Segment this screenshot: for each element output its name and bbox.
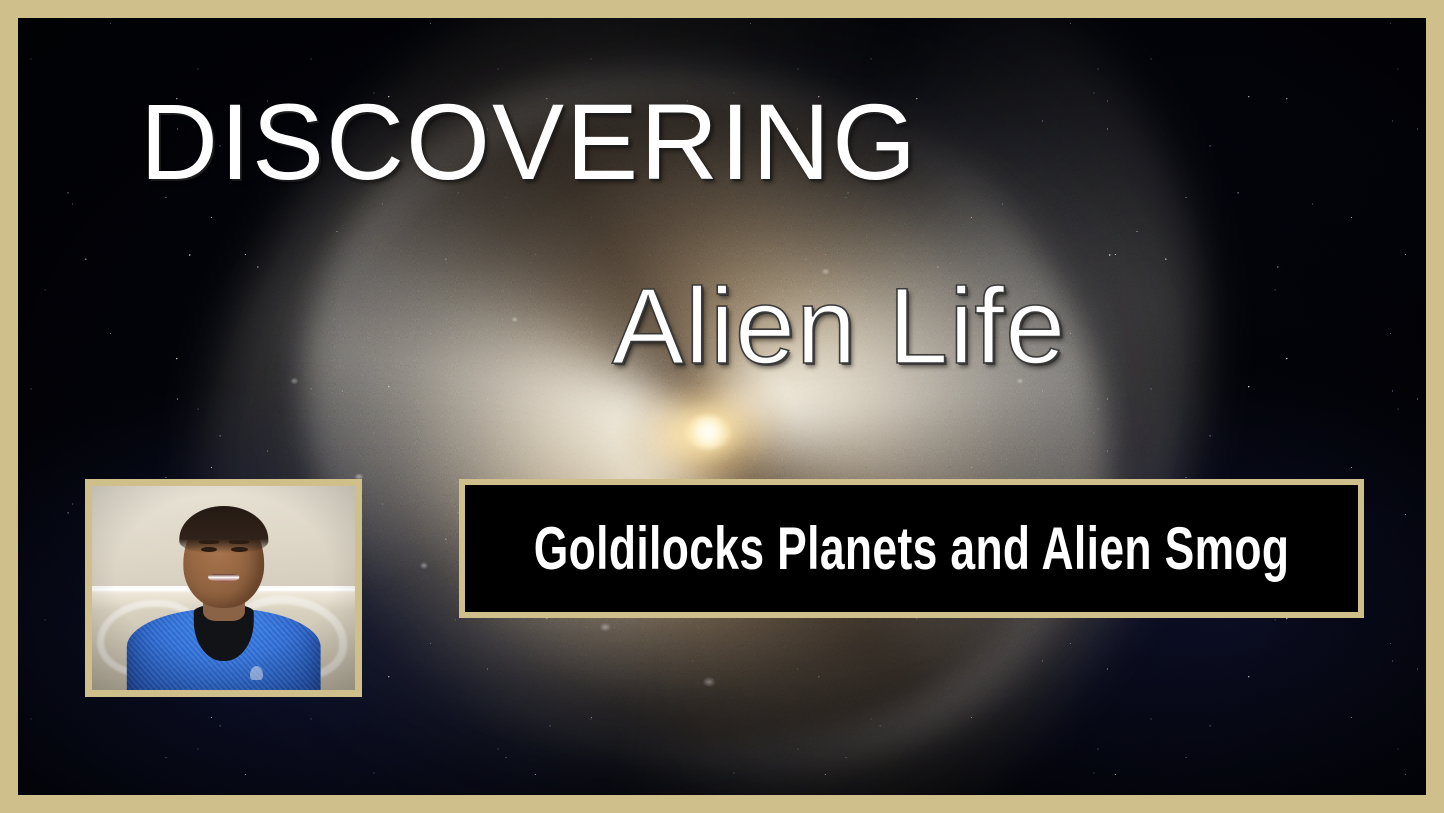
- video-thumbnail: DISCOVERING Alien Life Goldilocks Planet…: [0, 0, 1444, 813]
- subtitle-banner-text: Goldilocks Planets and Alien Smog: [534, 519, 1290, 579]
- presenter-insignia-badge: [250, 666, 263, 680]
- presenter-photo: [92, 486, 355, 690]
- presenter-eyebrow-right: [229, 540, 249, 543]
- presenter-eyebrow-left: [199, 540, 219, 543]
- title-line-primary: DISCOVERING: [140, 88, 918, 196]
- presenter-mouth: [208, 574, 240, 583]
- subtitle-banner: Goldilocks Planets and Alien Smog: [459, 479, 1364, 618]
- presenter-photo-frame: [85, 479, 362, 697]
- title-line-secondary: Alien Life: [612, 272, 1066, 380]
